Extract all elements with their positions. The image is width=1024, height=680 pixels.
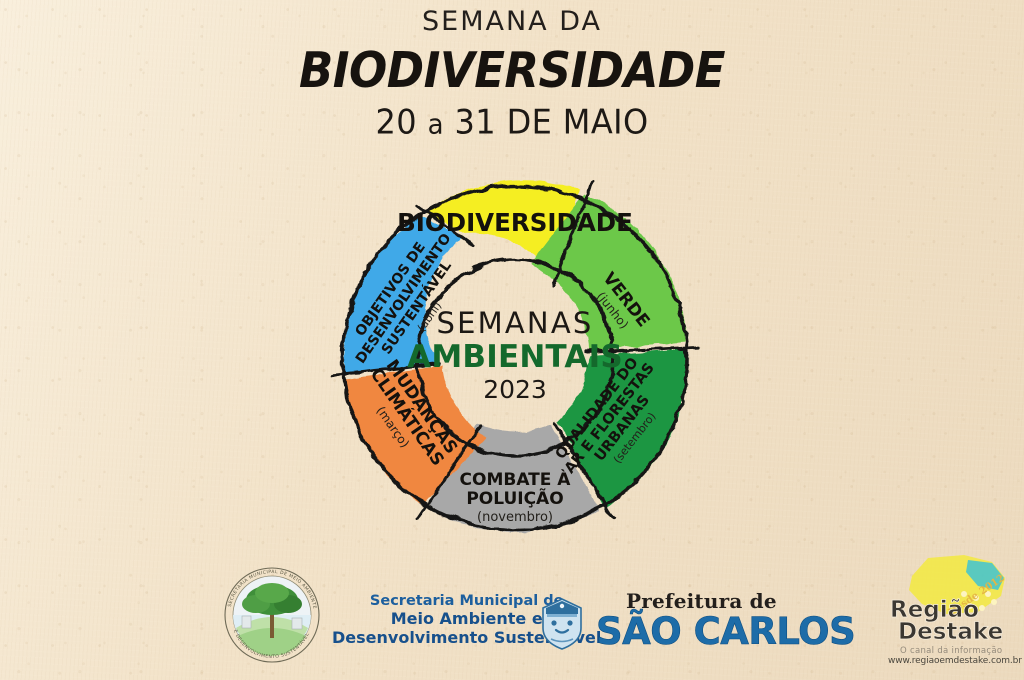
segment-label-combate-poluicao-l1: COMBATE À bbox=[460, 468, 572, 490]
segment-label-biodiversidade: BIODIVERSIDADE bbox=[397, 208, 633, 237]
secretaria-seal-logo: SECRETARIA MUNICIPAL DE MEIO AMBIENTE E … bbox=[218, 566, 326, 664]
page-title-biodiversidade: BIODIVERSIDADE bbox=[0, 46, 1024, 97]
header-line-semana-da: SEMANA DA bbox=[0, 8, 1024, 36]
watermark-url[interactable]: www.regiaoemdestake.com.br bbox=[888, 656, 1022, 666]
header-date-range: 20 a 31 DE MAIO bbox=[0, 105, 1024, 141]
date-joiner: a bbox=[428, 109, 444, 141]
prefeitura-line-2: SÃO CARLOS bbox=[596, 613, 855, 650]
watermark-brand-line-2: Destake bbox=[898, 622, 1014, 644]
date-day-start: 20 bbox=[375, 102, 417, 142]
segment-label-combate-poluicao-l2: POLUIÇÃO bbox=[466, 486, 563, 509]
poster-header: SEMANA DA BIODIVERSIDADE 20 a 31 DE MAIO bbox=[0, 8, 1024, 140]
prefeitura-line-1: Prefeitura de bbox=[626, 591, 855, 611]
poster-footer: SECRETARIA MUNICIPAL DE MEIO AMBIENTE E … bbox=[0, 562, 1024, 672]
date-day-end-month: 31 DE MAIO bbox=[454, 102, 648, 142]
watermark-brand-name: Região Destake bbox=[890, 600, 1014, 643]
prefeitura-text-block: Prefeitura de SÃO CARLOS bbox=[596, 591, 855, 650]
segment-month-combate-poluicao: (novembro) bbox=[477, 510, 553, 525]
regiao-destake-watermark[interactable]: Desde 2012 Região Destake O canal da inf… bbox=[884, 550, 1018, 666]
semanas-ambientais-wheel: BIODIVERSIDADE VERDE (junho) QUALIDADE D… bbox=[330, 168, 700, 543]
prefeitura-coat-of-arms-icon bbox=[538, 594, 586, 652]
watermark-tagline: O canal da informação bbox=[900, 646, 1002, 656]
